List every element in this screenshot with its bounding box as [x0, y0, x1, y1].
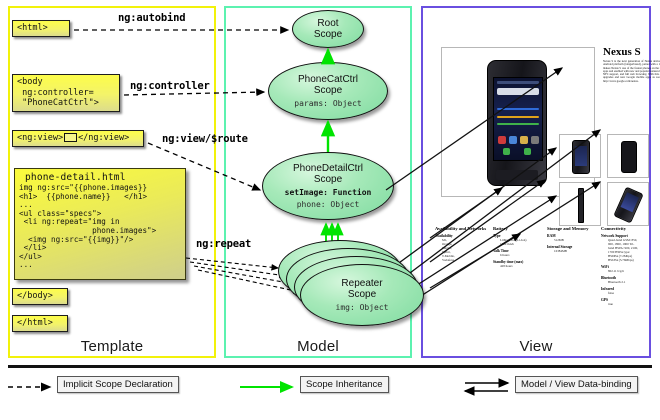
screen-searchbar: [497, 88, 539, 95]
screen-app-icon-1: [498, 136, 506, 144]
spec-value: HSUPA (5.76Mbps): [601, 258, 651, 262]
legend-label-implicit-scope-declaration: Implicit Scope Declaration: [57, 376, 179, 393]
scope-root-label: RootScope: [314, 18, 342, 40]
screen-app-icon-3: [520, 136, 528, 144]
body-close-tag: </body>: [12, 288, 68, 305]
thumbnail-4-image: [613, 187, 643, 224]
screen-widget-green: [497, 123, 539, 125]
thumbnail-1[interactable]: [559, 134, 601, 178]
ngview-close-label: </ng:view>: [78, 133, 129, 143]
screen-dock-icon-1: [503, 148, 510, 155]
scope-repeater: RepeaterScope img: Object: [300, 264, 424, 326]
spec-header: Storage and Memory: [547, 226, 599, 231]
note-code: img ng:src="{{phone.images}} <h1> {{phon…: [15, 184, 185, 270]
thumbnail-1-screen: [575, 146, 587, 166]
html-close-tag: </html>: [12, 315, 68, 332]
scope-phonecatctrl: PhoneCatCtrlScope params: Object: [268, 62, 388, 120]
label-ng-view-route: ng:view/$route: [162, 133, 248, 145]
html-open-tag: <html>: [12, 20, 70, 37]
legend-label-model-view-data-binding: Model / View Data-binding: [515, 376, 638, 393]
phone-home-buttons: [496, 170, 538, 180]
scope-phonecatctrl-prop-params: params: Object: [294, 99, 361, 109]
thumbnail-3[interactable]: [559, 182, 601, 226]
scope-phonedetailctrl-prop-phone: phone: Object: [297, 200, 360, 210]
screen-dock-icon-2: [524, 148, 531, 155]
spec-value: Bluetooth 2.1: [601, 280, 651, 284]
diagram-root: <html> <body ng:controller= "PhoneCatCtr…: [0, 0, 660, 420]
scope-root: RootScope: [292, 10, 364, 48]
view-rendered-page: Nexus S Nexus S is the next generation o…: [427, 14, 645, 344]
spec-value: 802.11 b/g/n: [601, 269, 651, 273]
label-ng-repeat: ng:repeat: [196, 238, 251, 250]
label-ng-autobind: ng:autobind: [118, 12, 185, 24]
spec-value: 1500 mAh: [493, 242, 545, 246]
spec-value: false: [601, 291, 651, 295]
thumbnail-4-screen: [621, 192, 639, 212]
legend: Implicit Scope Declaration Scope Inherit…: [0, 374, 660, 408]
legend-divider: [8, 365, 652, 368]
legend-label-scope-inheritance: Scope Inheritance: [300, 376, 389, 393]
spec-value: true: [601, 302, 651, 306]
thumbnail-2[interactable]: [607, 134, 649, 178]
scope-phonecatctrl-label: PhoneCatCtrlScope: [298, 74, 358, 96]
thumbnail-3-image: [578, 188, 584, 223]
product-description: Nexus S is the next generation of Nexus …: [603, 60, 660, 83]
spec-column-battery: BatteryTypeLithium Ion (Li-Ion)1500 mAhT…: [493, 226, 545, 268]
screen-statusbar: [497, 81, 539, 84]
note-filename: phone-detail.html: [15, 169, 185, 184]
screen-app-icon-2: [509, 136, 517, 144]
ngview-open-label: <ng:view>: [17, 133, 63, 143]
spec-value: 6 hours: [493, 253, 545, 257]
scope-phonedetailctrl-prop-setimage: setImage: Function: [285, 188, 372, 198]
spec-value: Vodafone: [435, 258, 487, 262]
phone-detail-note: phone-detail.html img ng:src="{{phone.im…: [14, 168, 186, 280]
spec-value: 16384MB: [547, 249, 599, 253]
spec-header: Availability and Networks: [435, 226, 487, 231]
spec-column-storage: Storage and MemoryRAM512MBInternal Stora…: [547, 226, 599, 253]
scope-phonedetailctrl: PhoneDetailCtrlScope setImage: Function …: [262, 152, 394, 220]
scope-phonedetailctrl-label: PhoneDetailCtrlScope: [293, 163, 363, 185]
thumbnail-1-image: [572, 140, 590, 174]
spec-value: 512MB: [547, 238, 599, 242]
spec-column-connectivity: ConnectivityNetwork SupportQuad-band GSM…: [601, 226, 651, 306]
body-open-tag: <body ng:controller= "PhoneCatCtrl">: [12, 74, 120, 112]
ngview-tag: <ng:view></ng:view>: [12, 130, 144, 147]
scope-repeater-label: RepeaterScope: [341, 278, 382, 300]
thumbnail-2-image: [621, 141, 637, 173]
phone-screen: [493, 77, 543, 161]
thumbnail-4[interactable]: [607, 182, 649, 226]
screen-widget-blue: [497, 108, 539, 110]
screen-app-icon-4: [531, 136, 539, 144]
spec-value: 428 hours: [493, 264, 545, 268]
product-title: Nexus S: [603, 46, 641, 58]
spec-header: Battery: [493, 226, 545, 231]
label-ng-controller: ng:controller: [130, 80, 210, 92]
spec-header: Connectivity: [601, 226, 651, 231]
spec-column-availability: Availability and NetworksAvailabilityM1,…: [435, 226, 487, 262]
ngview-placeholder-icon: [64, 133, 77, 142]
scope-repeater-prop-img: img: Object: [336, 303, 389, 313]
screen-widget-orange: [497, 116, 539, 118]
phone-hero-image: [487, 60, 547, 186]
